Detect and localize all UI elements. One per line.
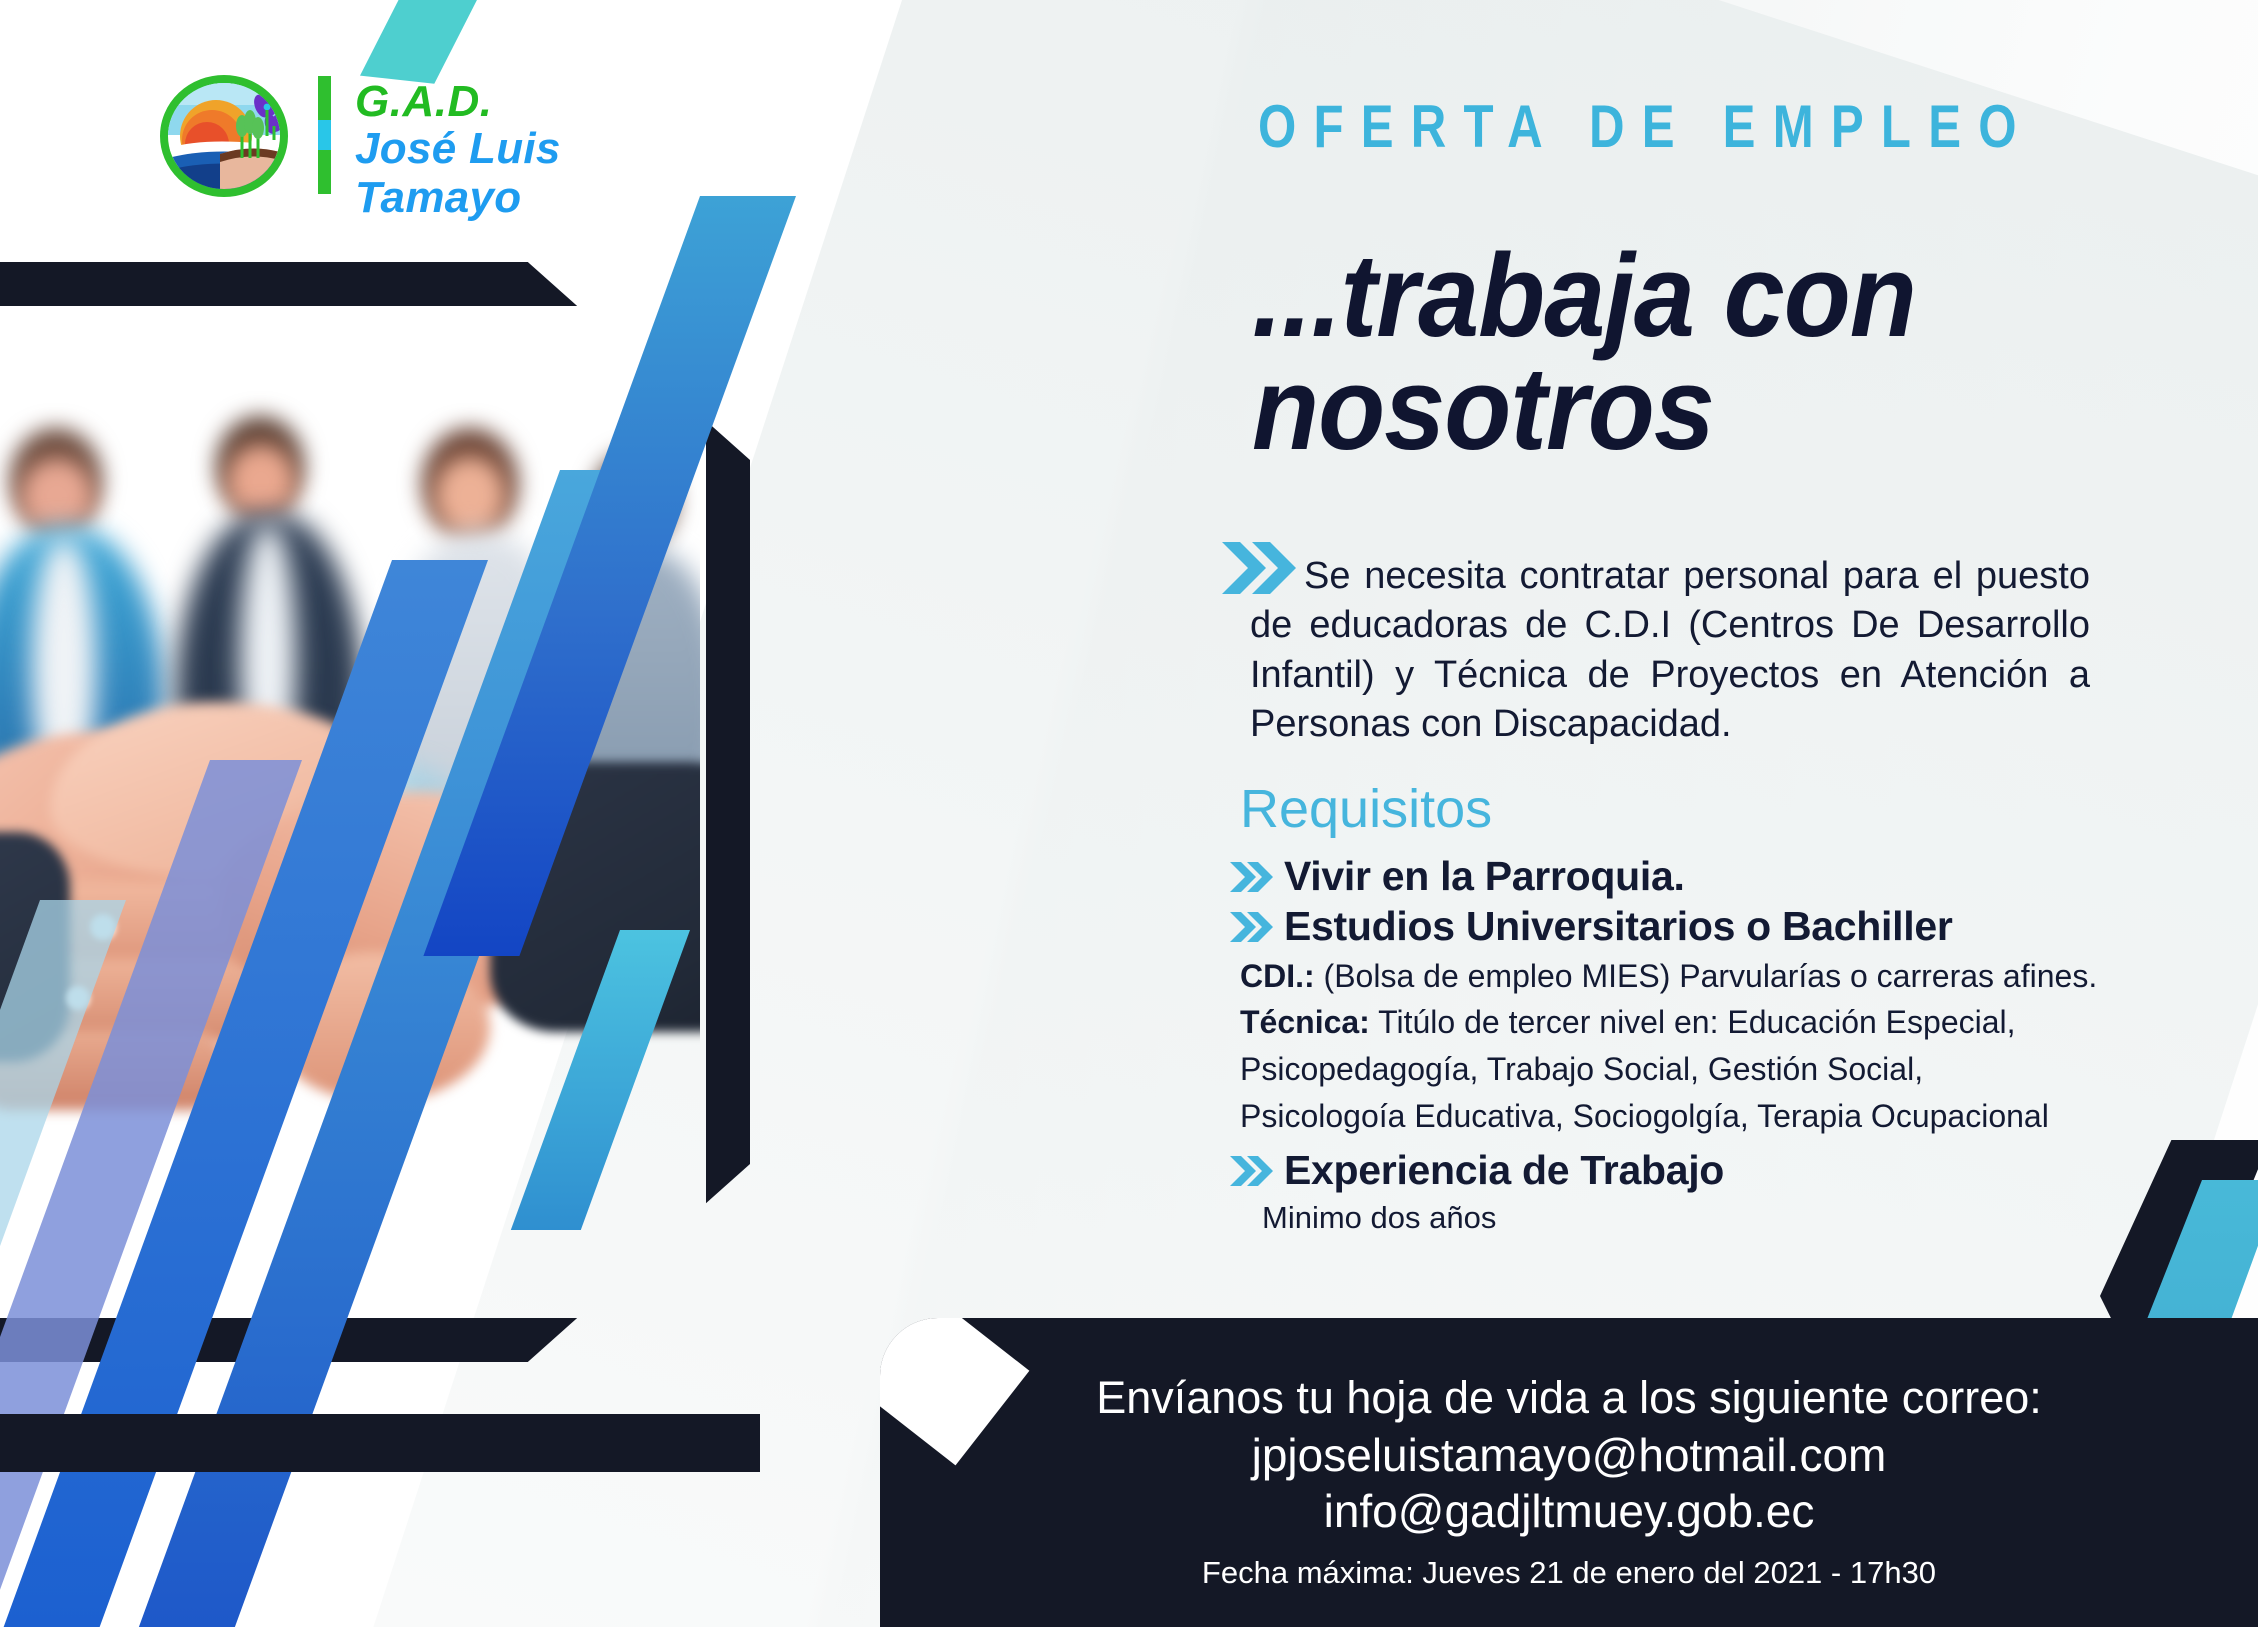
requisito-detail-careers-2: Psicopedagogía, Trabajo Social, Gestión … [1240,1046,2128,1093]
footer-deadline: Fecha máxima: Jueves 21 de enero del 202… [880,1555,2258,1591]
requisito-detail-label: CDI.: [1240,958,1315,994]
list-item: Estudios Universitarios o Bachiller [1228,902,2128,950]
logo-text: G.A.D. José Luis Tamayo [355,80,670,223]
requisito-detail-careers-3: Psicologoía Educativa, Sociogolgía, Tera… [1240,1093,2128,1140]
requisito-detail-text: (Bolsa de empleo MIES) Parvularías o car… [1324,958,2098,994]
requisito-note: Minimo dos años [1262,1198,2128,1238]
requisito-detail-text: Titúlo de tercer nivel en: Educación Esp… [1378,1004,2015,1040]
logo-line-name: José Luis Tamayo [355,124,670,223]
headline-line-1: ...trabaja con [1252,240,2108,353]
logo: G.A.D. José Luis Tamayo [150,78,670,188]
lead-paragraph: Se necesita contratar personal para el p… [1250,552,2090,750]
logo-line-gad: G.A.D. [355,80,670,124]
footer-call-to-action: Envíanos tu hoja de vida a los siguiente… [880,1372,2258,1424]
requisito-text: Experiencia de Trabajo [1284,1146,1724,1194]
poster-canvas: G.A.D. José Luis Tamayo OFERTA DE EMPLEO… [0,0,2258,1627]
requisito-detail-label: Técnica: [1240,1004,1370,1040]
footer-email-secondary[interactable]: info@gadjltmuey.gob.ec [880,1484,2258,1538]
requisito-text: Estudios Universitarios o Bachiller [1284,902,1952,950]
gad-emblem-icon [150,74,298,198]
list-item: Experiencia de Trabajo [1228,1146,2128,1194]
requisito-text: Vivir en la Parroquia. [1284,852,1685,900]
double-chevron-icon [1228,1155,1274,1192]
page-kicker: OFERTA DE EMPLEO [1258,92,2034,161]
double-chevron-icon [1228,861,1274,898]
navy-horizontal-bar [0,1414,760,1472]
logo-divider-bar [318,76,331,194]
requisito-detail-cdi: CDI.: (Bolsa de empleo MIES) Parvularías… [1240,953,2128,1000]
footer-email-primary[interactable]: jpjoseluistamayo@hotmail.com [880,1428,2258,1482]
page-title: ...trabaja con nosotros [1252,240,2108,467]
requisito-detail-tecnica: Técnica: Titúlo de tercer nivel en: Educ… [1240,999,2128,1046]
double-chevron-icon [1228,911,1274,948]
requisitos-title: Requisitos [1240,778,1492,840]
list-item: Vivir en la Parroquia. [1228,852,2128,900]
requisitos-list: Vivir en la Parroquia. Estudios Universi… [1228,852,2128,1238]
headline-line-2: nosotros [1252,353,2108,466]
